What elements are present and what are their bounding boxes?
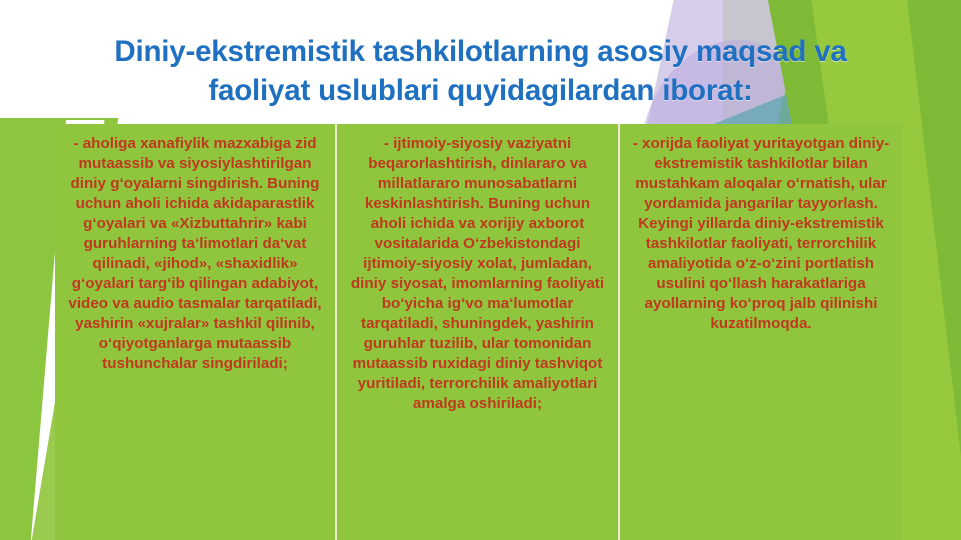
slide-title-line-1: Diniy-ekstremistik tashkilotlarning asos… bbox=[40, 32, 921, 71]
slide-canvas: Diniy-ekstremistik tashkilotlarning asos… bbox=[0, 0, 961, 540]
slide-title: Diniy-ekstremistik tashkilotlarning asos… bbox=[40, 32, 921, 110]
table-cell-text-1: - aholiga xanafiylik mazxabiga zid mutaa… bbox=[64, 134, 326, 374]
table-cell-column-3: - xorijda faoliyat yuritayotgan diniy-ek… bbox=[620, 124, 902, 540]
table-cell-column-2: - ijtimoiy-siyosiy vaziyatni beqarorlash… bbox=[337, 124, 620, 540]
table-cell-column-1: - aholiga xanafiylik mazxabiga zid mutaa… bbox=[55, 124, 337, 540]
table-cell-text-3: - xorijda faoliyat yuritayotgan diniy-ek… bbox=[629, 134, 893, 334]
content-table: - aholiga xanafiylik mazxabiga zid mutaa… bbox=[55, 124, 902, 540]
slide-title-line-2: faoliyat uslublari quyidagilardan iborat… bbox=[40, 71, 921, 110]
table-cell-text-2: - ijtimoiy-siyosiy vaziyatni beqarorlash… bbox=[346, 134, 609, 414]
